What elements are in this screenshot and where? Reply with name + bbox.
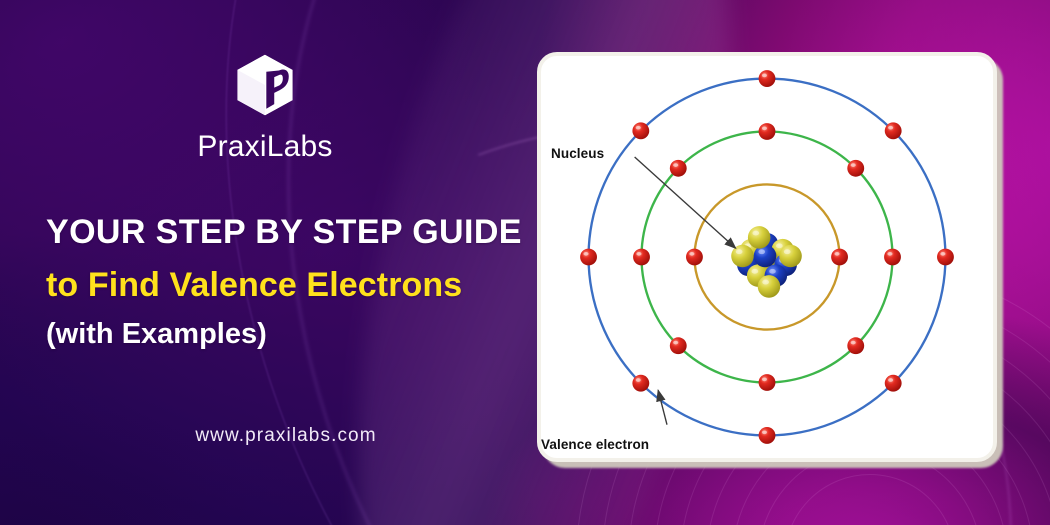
electron-shell-2-middle-5 <box>847 160 864 177</box>
electron-body <box>759 70 776 87</box>
electron-shell-2-middle-3 <box>847 337 864 354</box>
electron-body <box>885 375 902 392</box>
electron-highlight <box>636 252 641 256</box>
headline-line-2: to Find Valence Electrons <box>46 267 526 304</box>
electron-shell-2-middle-6 <box>759 123 776 140</box>
label-valence-electron: Valence electron <box>541 437 649 452</box>
headline-line-3: (with Examples) <box>46 319 526 350</box>
praxilabs-cube-logo-icon <box>232 52 298 118</box>
electron-shell-3-outer-1 <box>632 375 649 392</box>
electron-highlight <box>888 126 893 130</box>
electron-highlight <box>762 74 767 78</box>
website-url[interactable]: www.praxilabs.com <box>46 425 526 447</box>
electron-body <box>759 123 776 140</box>
electron-highlight <box>851 341 856 345</box>
electron-body <box>686 249 703 266</box>
neutron-9 <box>748 226 771 249</box>
electron-body <box>633 249 650 266</box>
neutron-2-highlight <box>776 243 783 248</box>
electron-highlight <box>762 126 767 130</box>
electron-shell-2-middle-1 <box>670 337 687 354</box>
electron-body <box>632 375 649 392</box>
electron-highlight <box>636 378 641 382</box>
electron-highlight <box>887 252 892 256</box>
electron-shell-2-middle-2 <box>759 374 776 391</box>
neutron-6-highlight <box>752 269 759 274</box>
electron-shell-3-outer-2 <box>759 427 776 444</box>
electron-highlight <box>851 163 856 167</box>
neutron-9-body <box>748 226 771 249</box>
electron-shell-3-outer-5 <box>885 122 902 139</box>
bohr-atom-diagram <box>541 56 993 458</box>
neutron-10-body <box>779 245 802 268</box>
electron-shell-2-middle-7 <box>670 160 687 177</box>
neutron-10 <box>779 245 802 268</box>
electron-highlight <box>940 252 945 256</box>
electron-shell-2-middle-0 <box>633 249 650 266</box>
neutron-12-body <box>758 275 781 298</box>
electron-shell-3-outer-0 <box>580 249 597 266</box>
electron-body <box>759 374 776 391</box>
electron-highlight <box>636 126 641 130</box>
electron-highlight <box>689 252 694 256</box>
electron-highlight <box>762 378 767 382</box>
neutron-9-highlight <box>752 231 759 236</box>
electron-highlight <box>673 163 678 167</box>
electron-body <box>670 160 687 177</box>
electron-highlight <box>834 252 839 256</box>
electron-body <box>847 160 864 177</box>
label-nucleus: Nucleus <box>551 146 604 161</box>
electron-body <box>847 337 864 354</box>
electron-body <box>670 337 687 354</box>
electron-body <box>759 427 776 444</box>
headline-block: YOUR STEP BY STEP GUIDE to Find Valence … <box>46 214 526 351</box>
electron-shell-3-outer-3 <box>885 375 902 392</box>
proton-8-highlight <box>758 249 765 254</box>
neutron-12-highlight <box>762 280 769 285</box>
promo-banner: PraxiLabs YOUR STEP BY STEP GUIDE to Fin… <box>0 0 1050 525</box>
electron-highlight <box>673 341 678 345</box>
electron-shell-1-inner-0 <box>686 249 703 266</box>
left-content-column: PraxiLabs YOUR STEP BY STEP GUIDE to Fin… <box>0 0 530 525</box>
atom-diagram-card: Nucleus Valence electron <box>537 52 997 462</box>
electron-body <box>937 249 954 266</box>
neutron-10-highlight <box>784 249 791 254</box>
electron-highlight <box>888 378 893 382</box>
electron-shell-1-inner-1 <box>831 249 848 266</box>
electron-body <box>580 249 597 266</box>
electron-shell-3-outer-4 <box>937 249 954 266</box>
electron-body <box>831 249 848 266</box>
electron-highlight <box>583 252 588 256</box>
neutron-12 <box>758 275 781 298</box>
neutron-11-highlight <box>736 249 743 254</box>
electron-highlight <box>762 430 767 434</box>
electron-body <box>885 122 902 139</box>
electron-shell-3-outer-7 <box>632 122 649 139</box>
headline-line-1: YOUR STEP BY STEP GUIDE <box>46 214 526 251</box>
brand-logo[interactable]: PraxiLabs <box>155 52 375 164</box>
valence-leader-line <box>658 390 667 424</box>
electron-shell-3-outer-6 <box>759 70 776 87</box>
electron-shell-2-middle-4 <box>884 249 901 266</box>
electron-body <box>632 122 649 139</box>
brand-name: PraxiLabs <box>155 130 375 164</box>
electron-body <box>884 249 901 266</box>
proton-7-highlight <box>769 269 776 274</box>
